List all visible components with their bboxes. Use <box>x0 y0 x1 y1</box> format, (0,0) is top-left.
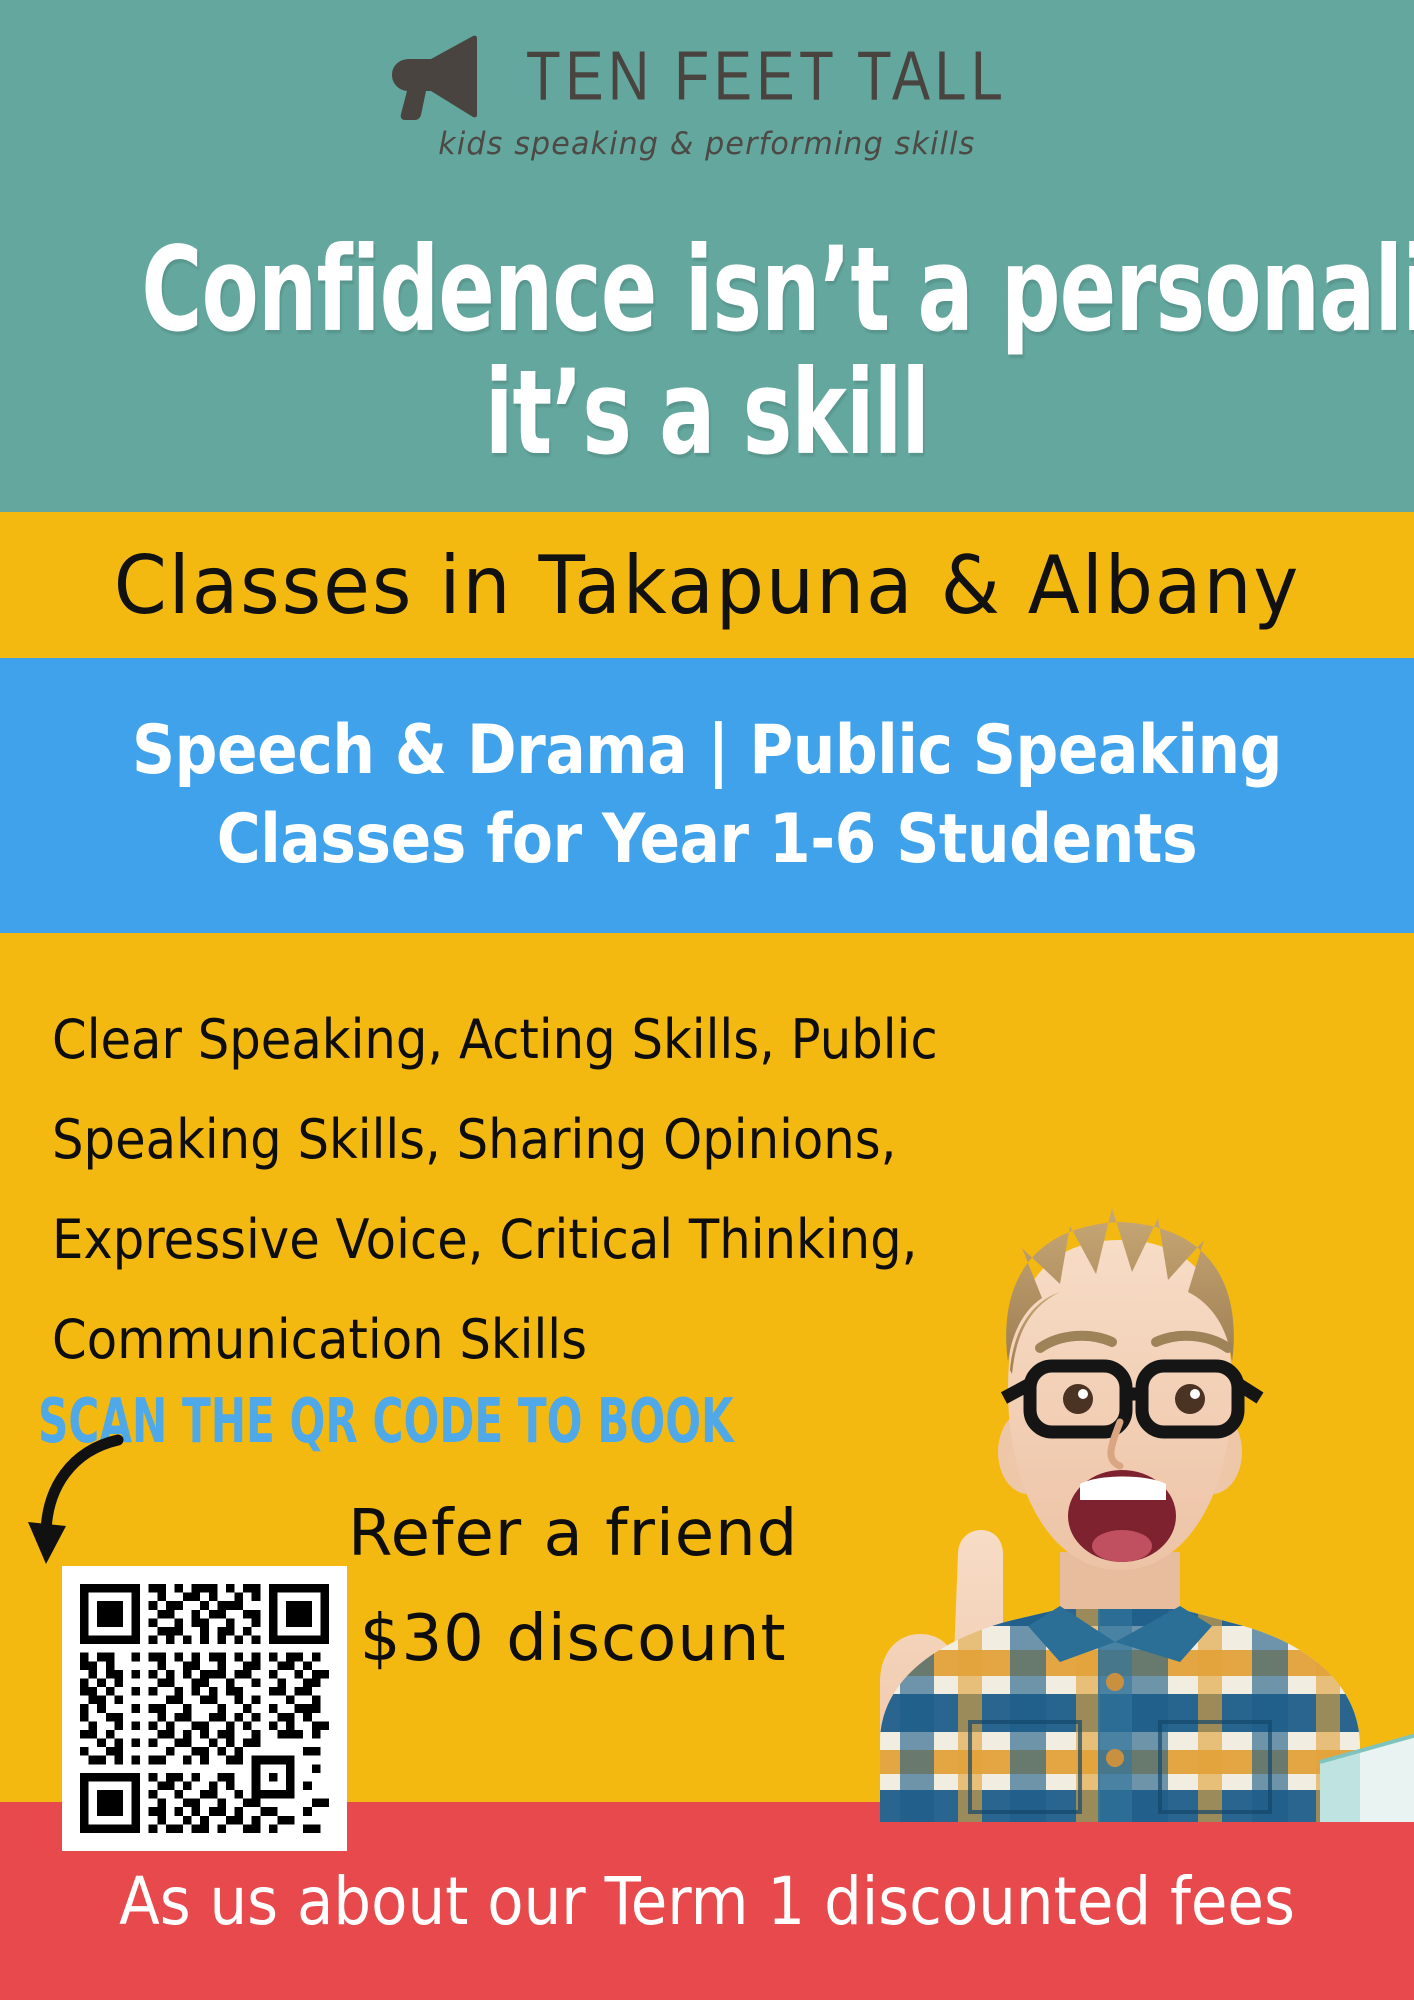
brand-logo: TEN FEET TALL kids speaking & performing… <box>0 34 1414 162</box>
skills-line-2: Speaking Skills, Sharing Opinions, <box>52 1090 981 1190</box>
qr-code-matrix[interactable] <box>80 1584 329 1833</box>
logo-wordmark: TEN FEET TALL <box>526 42 1007 111</box>
skills-line-1: Clear Speaking, Acting Skills, Public <box>52 990 981 1090</box>
referral-line-1: Refer a friend <box>348 1482 798 1587</box>
headline: Confidence isn’t a personality trait it’… <box>141 228 1272 475</box>
program-text: Speech & Drama | Public Speaking Classes… <box>85 658 1329 933</box>
poster-root: TEN FEET TALL kids speaking & performing… <box>0 0 1414 2000</box>
logo-row: TEN FEET TALL <box>385 34 1028 120</box>
footer-text: As us about our Term 1 discounted fees <box>71 1802 1344 2000</box>
headline-line-2: it’s a skill <box>141 351 1272 474</box>
logo-tagline: kids speaking & performing skills <box>438 126 975 162</box>
skills-list: Clear Speaking, Acting Skills, Public Sp… <box>52 990 981 1390</box>
megaphone-icon <box>385 34 485 120</box>
curved-arrow-down-icon <box>22 1432 152 1577</box>
program-line-2: Classes for Year 1-6 Students <box>217 796 1197 884</box>
skills-line-3: Expressive Voice, Critical Thinking, <box>52 1190 981 1290</box>
program-line-1: Speech & Drama | Public Speaking <box>132 707 1282 795</box>
skills-line-4: Communication Skills <box>52 1290 981 1390</box>
locations-text: Classes in Takapuna & Albany <box>35 512 1378 658</box>
referral-line-2: $30 discount <box>348 1587 798 1692</box>
headline-line-1: Confidence isn’t a personality trait <box>141 228 1272 351</box>
referral-offer: Refer a friend $30 discount <box>348 1482 798 1692</box>
